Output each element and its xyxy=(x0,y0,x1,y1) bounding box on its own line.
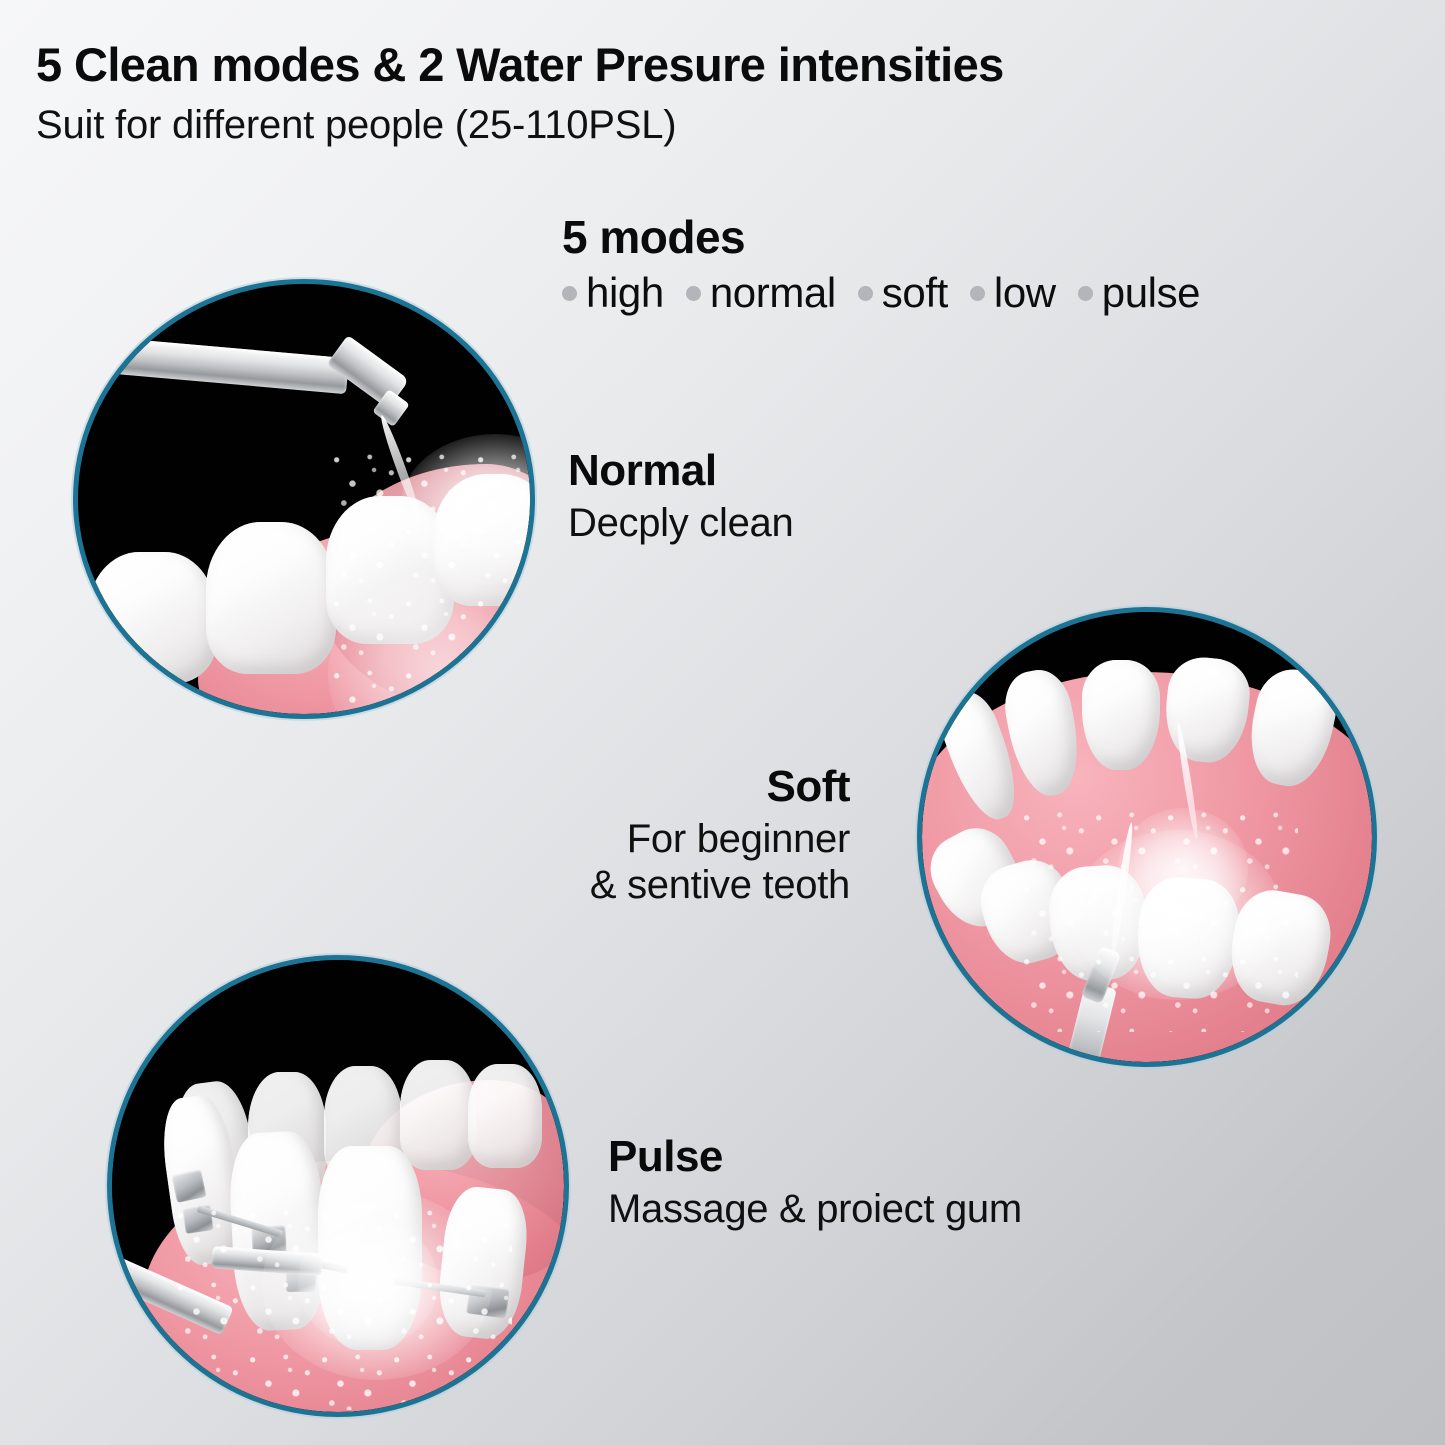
page-subtitle: Suit for different people (25-110PSL) xyxy=(36,104,1416,147)
caption-title: Normal xyxy=(568,446,793,495)
bullet-dot-icon xyxy=(686,286,701,301)
water-droplets xyxy=(1018,802,1298,1032)
mode-item-low: low xyxy=(970,272,1056,314)
caption-description: Massage & proiect gum xyxy=(608,1187,1022,1233)
mode-item-normal: normal xyxy=(686,272,836,314)
feature-image-pulse xyxy=(112,960,564,1412)
water-droplets xyxy=(172,1200,512,1410)
caption-description-line2: & sentive teoth xyxy=(420,863,850,909)
mode-item-soft: soft xyxy=(858,272,948,314)
bullet-dot-icon xyxy=(970,286,985,301)
header: 5 Clean modes & 2 Water Presure intensit… xyxy=(36,40,1416,147)
bullet-dot-icon xyxy=(858,286,873,301)
mode-label: soft xyxy=(882,272,948,314)
modes-heading: 5 modes xyxy=(562,214,1392,260)
bullet-dot-icon xyxy=(1078,286,1093,301)
caption-normal: Normal Decply clean xyxy=(568,446,793,547)
caption-description: Decply clean xyxy=(568,501,793,547)
water-droplets xyxy=(328,444,530,714)
mode-label: normal xyxy=(710,272,836,314)
mode-label: low xyxy=(994,272,1056,314)
tooth xyxy=(1082,660,1160,770)
feature-image-normal xyxy=(78,284,530,714)
mode-item-high: high xyxy=(562,272,664,314)
tooth xyxy=(468,1064,542,1168)
caption-description-line1: For beginner xyxy=(420,817,850,863)
mode-label: high xyxy=(586,272,664,314)
tooth xyxy=(88,552,216,684)
caption-soft: Soft For beginner & sentive teoth xyxy=(420,762,850,908)
page-title: 5 Clean modes & 2 Water Presure intensit… xyxy=(36,40,1416,90)
caption-pulse: Pulse Massage & proiect gum xyxy=(608,1132,1022,1233)
mode-item-pulse: pulse xyxy=(1078,272,1200,314)
image-clip xyxy=(78,284,530,714)
caption-title: Soft xyxy=(420,762,850,811)
tooth xyxy=(206,522,336,674)
image-clip xyxy=(922,612,1372,1062)
caption-title: Pulse xyxy=(608,1132,1022,1181)
mode-label: pulse xyxy=(1102,272,1200,314)
infographic-page: 5 Clean modes & 2 Water Presure intensit… xyxy=(0,0,1445,1445)
tooth xyxy=(400,1060,476,1170)
feature-image-soft xyxy=(922,612,1372,1062)
modes-list: high normal soft low pulse xyxy=(562,272,1392,314)
bullet-dot-icon xyxy=(562,286,577,301)
image-clip xyxy=(112,960,564,1412)
modes-block: 5 modes high normal soft low pulse xyxy=(562,214,1392,314)
